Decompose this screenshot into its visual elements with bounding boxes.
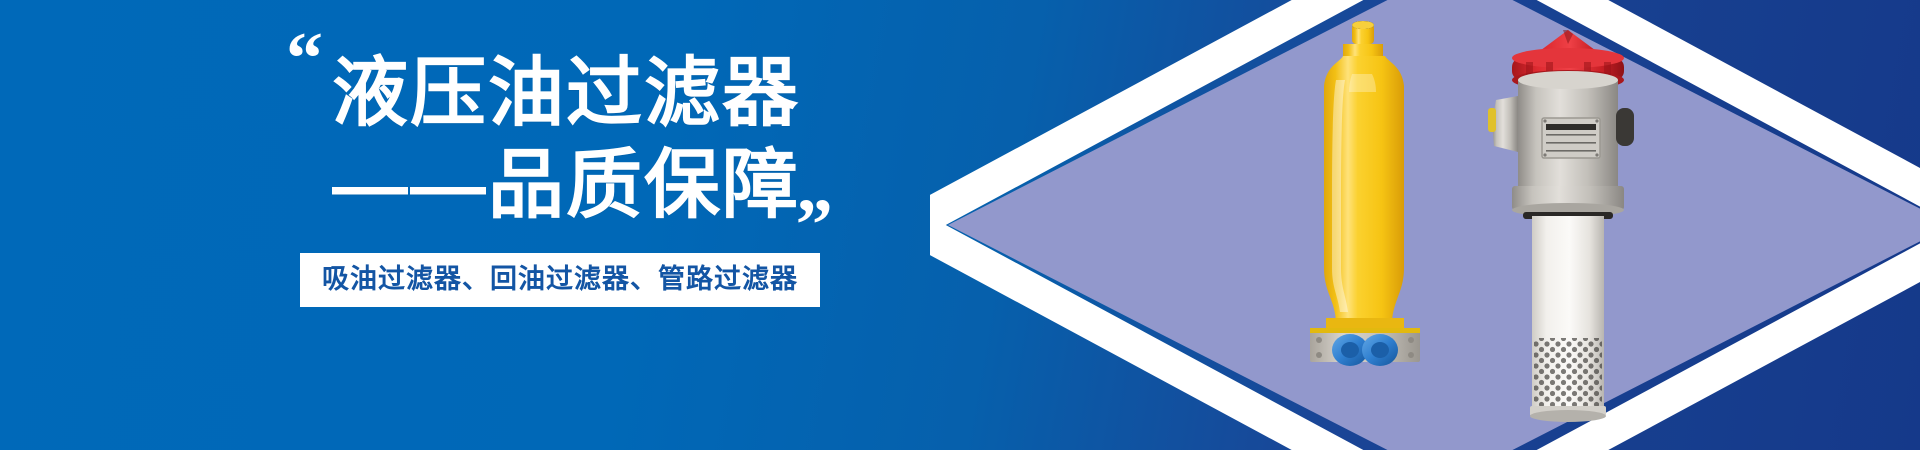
diamond-fill-shape xyxy=(948,0,1920,450)
subtitle-box: 吸油过滤器、回油过滤器、管路过滤器 xyxy=(300,253,820,307)
diamond-decoration xyxy=(930,0,1920,450)
quote-close-icon: “ xyxy=(800,160,833,234)
headline-block: “ 液压油过滤器 ——品质保障 “ 吸油过滤器、回油过滤器、管路过滤器 xyxy=(0,0,930,450)
quote-open-icon: “ xyxy=(286,22,319,96)
product-yellow-filter xyxy=(1310,21,1420,366)
product-return-filter xyxy=(1488,30,1634,422)
headline-line-1: 液压油过滤器 xyxy=(332,56,800,132)
headline-line-2: ——品质保障 xyxy=(332,148,800,224)
promo-banner: “ 液压油过滤器 ——品质保障 “ 吸油过滤器、回油过滤器、管路过滤器 xyxy=(0,0,1920,450)
diamond-outline-icon xyxy=(930,0,1920,450)
product-photo-group xyxy=(1280,0,1800,450)
subtitle-text: 吸油过滤器、回油过滤器、管路过滤器 xyxy=(322,264,798,295)
